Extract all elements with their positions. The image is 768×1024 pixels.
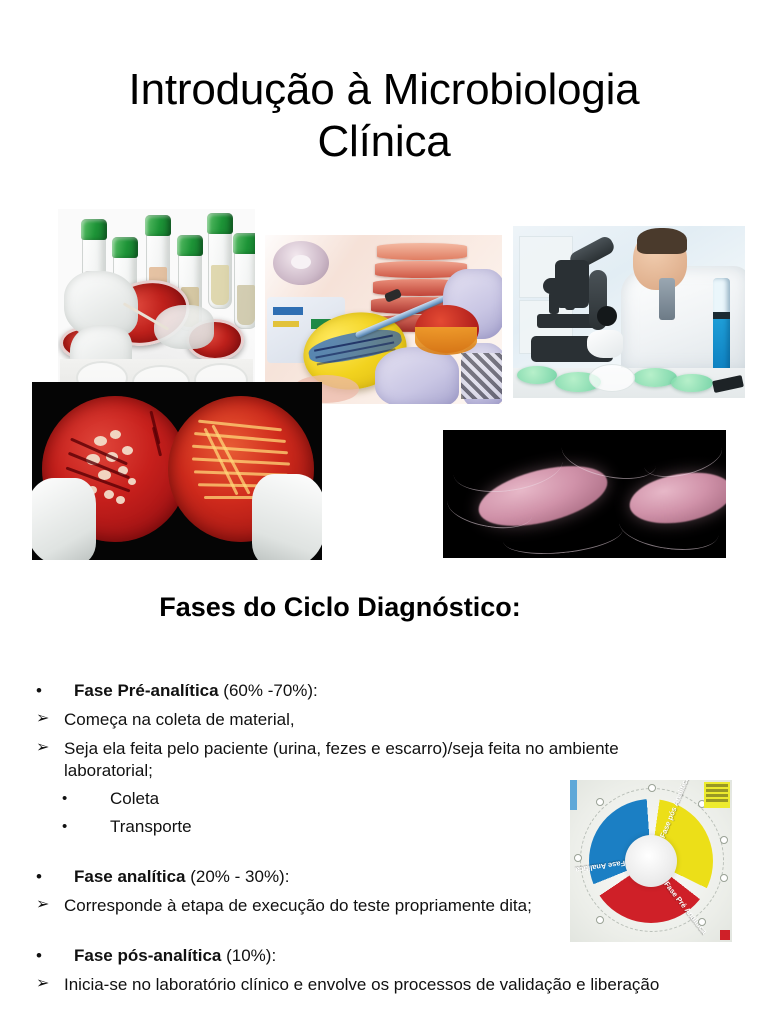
clear-dish <box>589 364 635 392</box>
diagram-corner-mark <box>720 930 730 940</box>
diagram-node <box>596 916 604 924</box>
bullet-icon: • <box>62 788 67 810</box>
bullet-icon: • <box>62 816 67 838</box>
diagram-node <box>648 784 656 792</box>
card-marker <box>273 307 303 315</box>
list-item-text: Fase pós-analítica (10%): <box>74 945 276 967</box>
specimen-tube <box>208 221 232 309</box>
list-item-text: Fase Pré-analítica (60% -70%): <box>74 680 318 702</box>
list-item-phase-post: • Fase pós-analítica (10%): <box>0 945 768 967</box>
colony <box>116 496 125 504</box>
list-item-text: Seja ela feita pelo paciente (urina, fez… <box>64 738 688 782</box>
gloved-hand <box>375 347 459 404</box>
page-title-line-2: Clínica <box>60 116 708 168</box>
colony <box>104 490 114 499</box>
bullet-icon: • <box>36 945 42 967</box>
page-edge-strip <box>570 780 577 810</box>
bacteria-micrograph-photo <box>443 430 726 558</box>
list-item: ➢ Inicia-se no laboratório clínico e env… <box>0 974 768 996</box>
specimen-tube <box>234 241 255 329</box>
section-heading: Fases do Ciclo Diagnóstico: <box>60 592 620 623</box>
tube-cap <box>81 219 107 240</box>
tape-roll-hole <box>291 255 311 269</box>
tube-cap <box>112 237 138 258</box>
legend-line <box>706 789 728 792</box>
list-item-text: Começa na coleta de material, <box>64 709 768 731</box>
tube-cap <box>177 235 203 256</box>
streak-line <box>192 457 290 465</box>
list-item-text: Transporte <box>110 816 192 838</box>
colony <box>122 446 133 455</box>
objective-lens <box>565 292 575 310</box>
legend-line <box>706 784 728 787</box>
green-culture-dish <box>671 374 713 392</box>
streak-line <box>192 445 288 455</box>
tube-contents <box>237 285 255 325</box>
legend-line <box>706 794 728 797</box>
diagram-node <box>596 798 604 806</box>
arrow-bullet-icon: ➢ <box>36 708 49 730</box>
page-title: Introdução à Microbiologia Clínica <box>60 64 708 168</box>
blue-reagent-tube <box>713 278 730 374</box>
gloved-hand <box>32 478 96 560</box>
page-title-line-1: Introdução à Microbiologia <box>60 64 708 116</box>
list-item-text: Corresponde à etapa de execução do teste… <box>64 895 558 917</box>
arrow-bullet-icon: ➢ <box>36 973 49 995</box>
diagram-node <box>698 918 706 926</box>
list-item-phase-pre: • Fase Pré-analítica (60% -70%): <box>0 680 768 702</box>
objective-lens <box>549 292 559 314</box>
tube-band <box>713 312 730 319</box>
mesh-surface <box>461 353 502 399</box>
arrow-bullet-icon: ➢ <box>36 894 49 916</box>
phase-name: Fase analítica <box>74 867 186 886</box>
green-culture-dish <box>517 366 557 384</box>
phase-percent: (20% - 30%): <box>186 867 290 886</box>
specimen-tubes-and-blood-agar-photo <box>58 209 255 399</box>
gloved-hand <box>252 474 322 560</box>
list-item: ➢ Seja ela feita pelo paciente (urina, f… <box>0 738 768 782</box>
diagram-legend <box>704 782 730 808</box>
bullet-icon: • <box>36 866 42 888</box>
blood-agar-plates-photo <box>32 382 322 560</box>
diagram-node <box>720 836 728 844</box>
phase-percent: (10%): <box>221 946 276 965</box>
diagram-node <box>720 874 728 882</box>
microscope-technician-photo <box>513 226 745 398</box>
phase-name: Fase pós-analítica <box>74 946 221 965</box>
bullet-icon: • <box>36 680 42 702</box>
diagram-node <box>574 854 582 862</box>
colony <box>110 430 121 439</box>
list-item-text: Coleta <box>110 788 159 810</box>
arrow-bullet-icon: ➢ <box>36 737 49 759</box>
card-marker <box>273 321 299 327</box>
phase-percent: (60% -70%): <box>219 681 318 700</box>
stacked-dish <box>377 243 467 260</box>
petri-dish-inoculation-photo <box>265 235 502 404</box>
list-item-text: Fase analítica (20% - 30%): <box>74 866 289 888</box>
tube-cap <box>207 213 233 234</box>
phase-name: Fase Pré-analítica <box>74 681 219 700</box>
list-item: ➢ Começa na coleta de material, <box>0 709 768 731</box>
diagnostic-cycle-wheel-diagram: Fase Pré Analítica Fase Analítica Fase p… <box>570 780 732 942</box>
tube-cap <box>145 215 171 236</box>
list-item-text: Inicia-se no laboratório clínico e envol… <box>64 974 768 996</box>
tube-contents <box>211 265 229 305</box>
gloved-hand <box>587 330 623 358</box>
legend-line <box>706 799 728 802</box>
focus-knob <box>597 306 617 326</box>
agar-sector <box>415 327 477 355</box>
colony <box>128 478 136 485</box>
technician-hair <box>637 228 687 254</box>
colony <box>94 436 107 446</box>
necktie <box>659 278 675 320</box>
tube-cap <box>233 233 255 254</box>
